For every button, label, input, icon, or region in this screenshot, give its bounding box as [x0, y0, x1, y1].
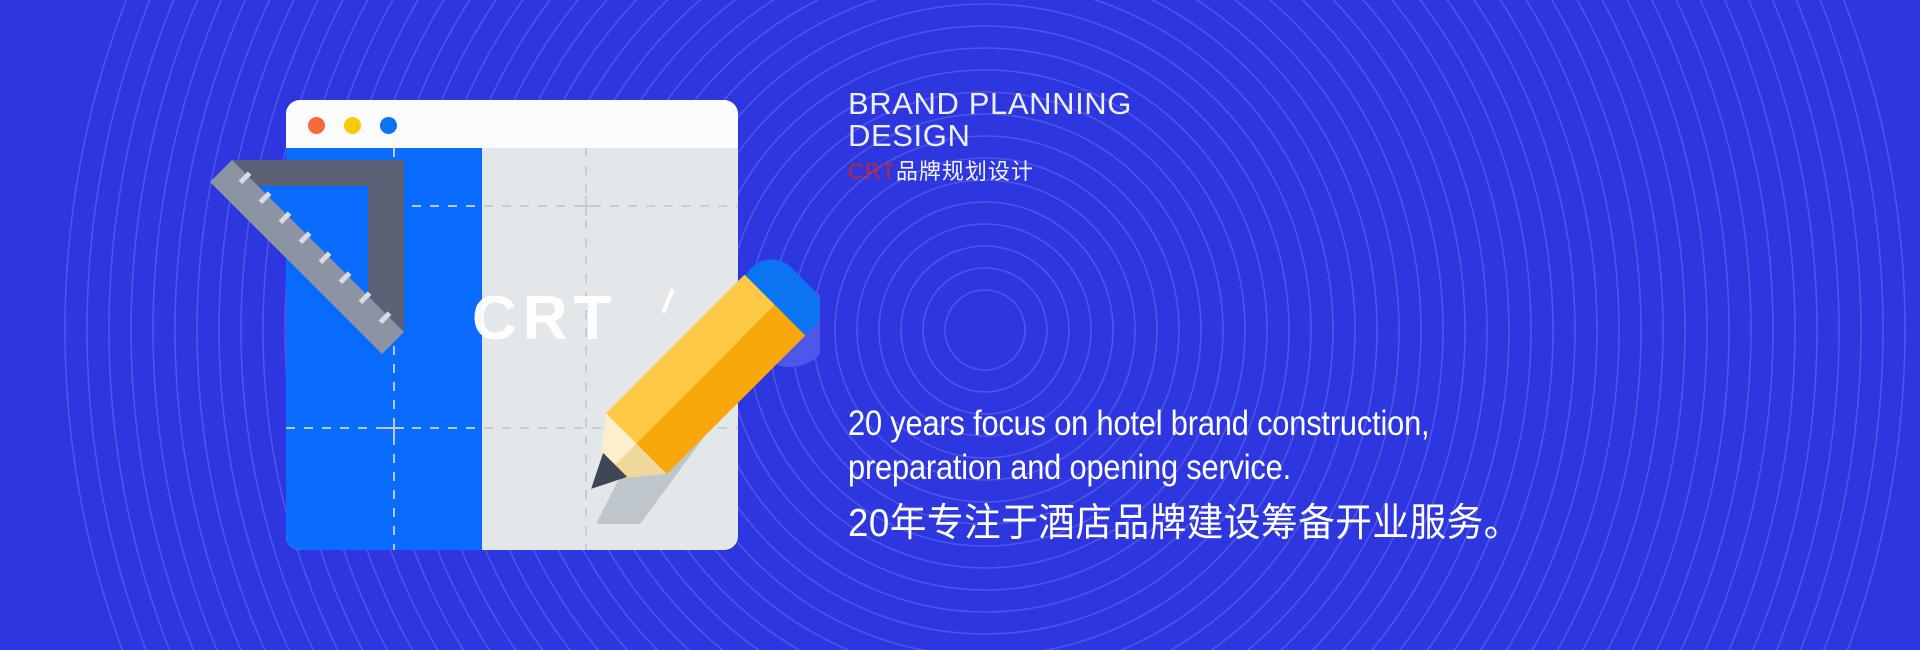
pencil-icon — [0, 0, 820, 650]
brand-abbreviation: CRT — [848, 159, 896, 184]
headline-block: BRAND PLANNING DESIGN CRT品牌规划设计 — [848, 88, 1548, 184]
headline-sub-cn: CRT品牌规划设计 — [848, 160, 1548, 184]
headline-kicker-en: BRAND PLANNING DESIGN — [848, 88, 1548, 151]
tagline-chinese: 20年专注于酒店品牌建设筹备开业服务。 — [848, 501, 1694, 548]
brand-banner: CRT — [0, 0, 1920, 650]
tagline-english: 20 years focus on hotel brand constructi… — [848, 402, 1640, 491]
hero-illustration: CRT — [0, 0, 820, 650]
tagline-block: 20 years focus on hotel brand constructi… — [848, 402, 1748, 548]
headline-sub-cn-text: 品牌规划设计 — [896, 159, 1034, 184]
